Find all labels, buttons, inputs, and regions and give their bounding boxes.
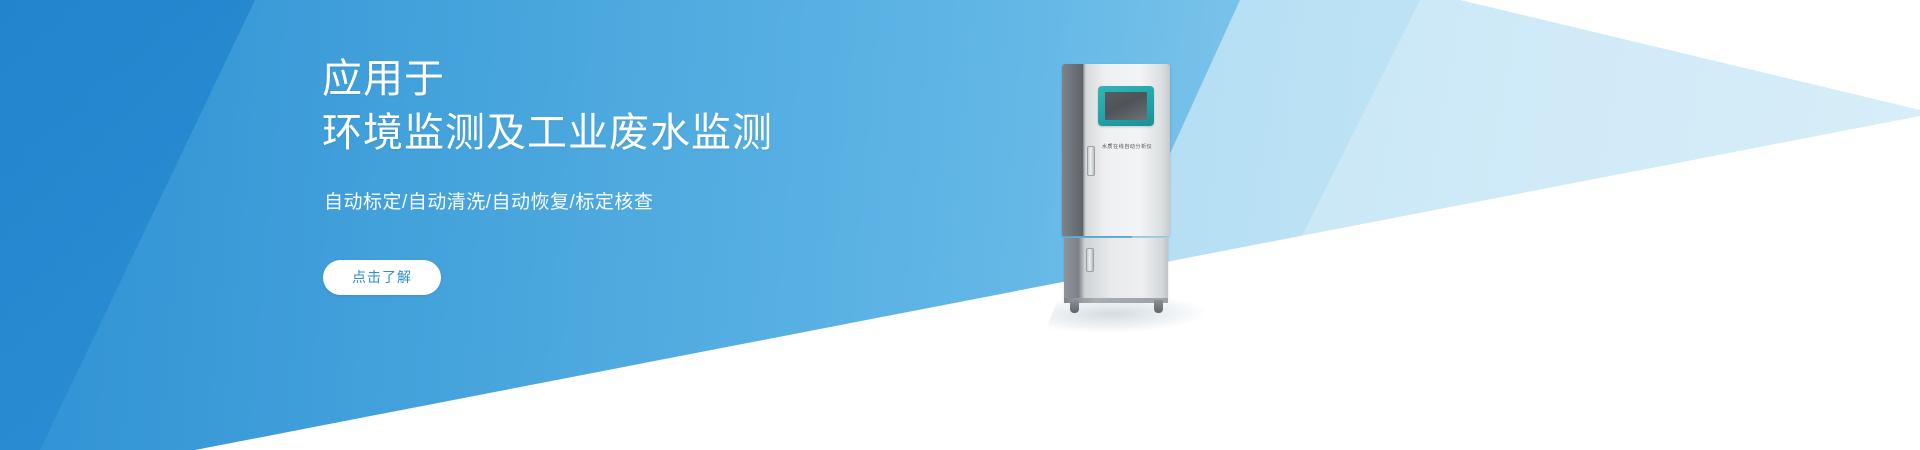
device-left-flank (1062, 64, 1083, 236)
hero-subtitle: 自动标定/自动清洗/自动恢复/标定核查 (324, 190, 1022, 216)
headline-line-2: 环境监测及工业废水监测 (322, 106, 1022, 160)
device-base-plate (1064, 298, 1168, 303)
caster-wheel-icon-left (1070, 300, 1079, 313)
hero-banner: 应用于 环境监测及工业废水监测 自动标定/自动清洗/自动恢复/标定核查 点击了解… (0, 0, 1920, 450)
caster-wheel-icon-right (1154, 300, 1163, 313)
display-screen-icon (1098, 86, 1154, 126)
product-image-water-quality-analyzer: 水质在线自动分析仪 (1062, 64, 1170, 312)
learn-more-button[interactable]: 点击了解 (323, 260, 441, 295)
hero-content: 应用于 环境监测及工业废水监测 自动标定/自动清洗/自动恢复/标定核查 点击了解 (322, 52, 1022, 295)
product-name-label: 水质在线自动分析仪 (1084, 144, 1170, 151)
lower-door-handle-icon (1086, 248, 1094, 272)
device-upper-cabinet: 水质在线自动分析仪 (1062, 64, 1170, 236)
device-screen-glass (1105, 92, 1147, 120)
headline-line-1: 应用于 (322, 52, 1022, 106)
device-lower-cabinet (1064, 238, 1168, 300)
page-title: 应用于 环境监测及工业废水监测 (322, 52, 1022, 160)
